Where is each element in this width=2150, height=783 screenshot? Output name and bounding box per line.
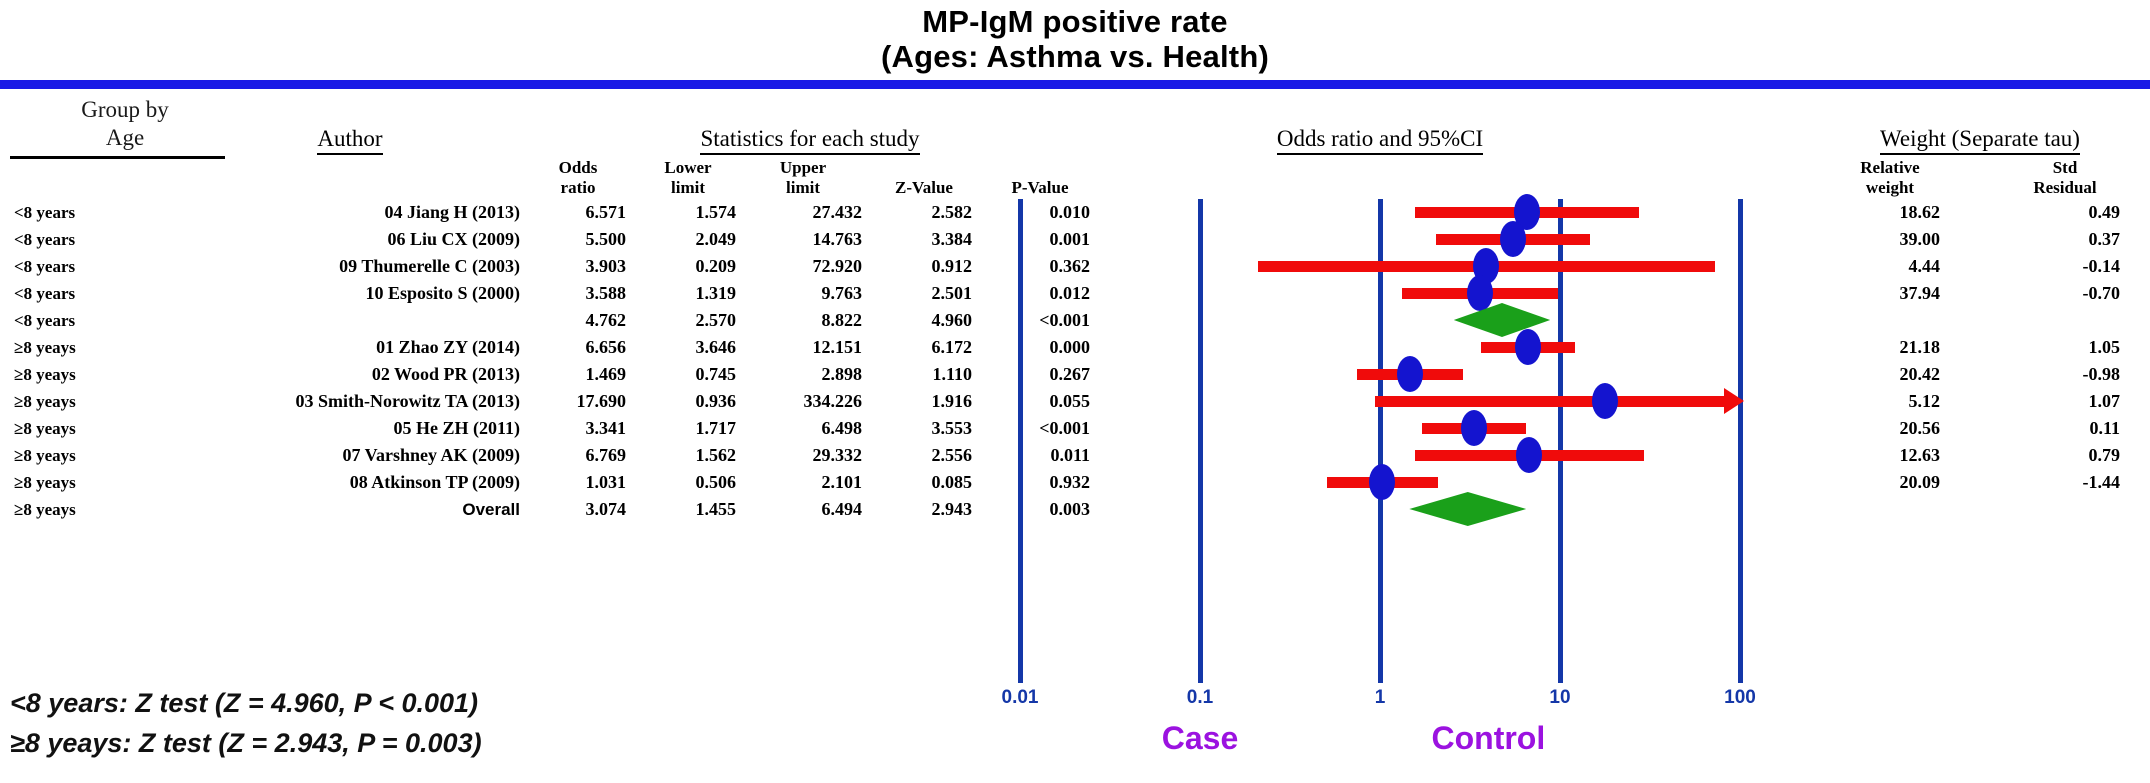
table-cell-group: ≥8 yeays xyxy=(14,388,164,415)
table-cell-z-value: 2.556 xyxy=(876,442,972,469)
table-cell-upper-limit: 27.432 xyxy=(752,199,862,226)
table-cell-upper-limit: 6.494 xyxy=(752,496,862,523)
author-header-label: Author xyxy=(317,126,382,155)
subheader-std-residual: Std Residual xyxy=(2010,158,2120,198)
table-cell-upper-limit: 12.151 xyxy=(752,334,862,361)
table-cell-upper-limit: 2.898 xyxy=(752,361,862,388)
subheader-upper-limit-line1: Upper xyxy=(755,158,851,178)
plot-header-label: Odds ratio and 95%CI xyxy=(1277,126,1483,155)
table-cell-odds-ratio: 3.903 xyxy=(530,253,626,280)
subheader-relative-weight: Relative weight xyxy=(1840,158,1940,198)
table-cell-odds-ratio: 3.074 xyxy=(530,496,626,523)
table-cell-z-value: 2.582 xyxy=(876,199,972,226)
table-cell-group: ≥8 yeays xyxy=(14,496,164,523)
case-direction-label: Case xyxy=(1100,720,1300,757)
confidence-interval-bar xyxy=(1375,396,1724,407)
subheader-relative-weight-line2: weight xyxy=(1840,178,1940,198)
subheader-upper-limit-line2: limit xyxy=(755,178,851,198)
subheader-std-residual-line2: Residual xyxy=(2010,178,2120,198)
axis-gridline-0.01 xyxy=(1018,199,1023,669)
axis-tick-10 xyxy=(1558,669,1563,683)
table-cell-z-value: 2.501 xyxy=(876,280,972,307)
table-cell-author: 10 Esposito S (2000) xyxy=(180,280,520,307)
subheader-odds-ratio-line2: ratio xyxy=(530,178,626,198)
table-cell-lower-limit: 0.209 xyxy=(640,253,736,280)
table-cell-lower-limit: 1.455 xyxy=(640,496,736,523)
plot-header: Odds ratio and 95%CI xyxy=(1130,126,1630,152)
table-cell-relative-weight: 20.56 xyxy=(1840,415,1940,442)
table-cell-relative-weight: 20.42 xyxy=(1840,361,1940,388)
table-cell-group: ≥8 yeays xyxy=(14,415,164,442)
table-cell-z-value: 4.960 xyxy=(876,307,972,334)
table-cell-std-residual: 1.07 xyxy=(2010,388,2120,415)
statistics-header: Statistics for each study xyxy=(530,126,1090,152)
table-cell-odds-ratio: 1.031 xyxy=(530,469,626,496)
table-cell-author: 09 Thumerelle C (2003) xyxy=(180,253,520,280)
table-cell-std-residual: -0.14 xyxy=(2010,253,2120,280)
table-cell-lower-limit: 2.049 xyxy=(640,226,736,253)
figure-title-line2: (Ages: Asthma vs. Health) xyxy=(0,39,2150,74)
table-cell-upper-limit: 14.763 xyxy=(752,226,862,253)
table-cell-std-residual: 1.05 xyxy=(2010,334,2120,361)
subheader-std-residual-line1: Std xyxy=(2010,158,2120,178)
table-cell-author: 03 Smith-Norowitz TA (2013) xyxy=(180,388,520,415)
table-cell-std-residual: -1.44 xyxy=(2010,469,2120,496)
study-point-marker xyxy=(1461,410,1487,446)
study-point-marker xyxy=(1500,221,1526,257)
table-cell-lower-limit: 1.574 xyxy=(640,199,736,226)
table-cell-group: ≥8 yeays xyxy=(14,334,164,361)
table-cell-author: 04 Jiang H (2013) xyxy=(180,199,520,226)
table-cell-upper-limit: 29.332 xyxy=(752,442,862,469)
group-by-label-line1: Group by xyxy=(10,96,240,124)
axis-tick-0.01 xyxy=(1018,669,1023,683)
subheader-p-value-label: P-Value xyxy=(990,178,1090,198)
table-cell-z-value: 6.172 xyxy=(876,334,972,361)
weight-header: Weight (Separate tau) xyxy=(1830,126,2130,152)
figure-title-line1: MP-IgM positive rate xyxy=(0,4,2150,39)
table-cell-z-value: 3.553 xyxy=(876,415,972,442)
axis-tick-1 xyxy=(1378,669,1383,683)
footnote-line-2: ≥8 yeays: Z test (Z = 2.943, P = 0.003) xyxy=(10,728,482,759)
table-cell-group: ≥8 yeays xyxy=(14,442,164,469)
study-point-marker xyxy=(1397,356,1423,392)
table-cell-upper-limit: 72.920 xyxy=(752,253,862,280)
table-cell-relative-weight: 37.94 xyxy=(1840,280,1940,307)
table-cell-upper-limit: 6.498 xyxy=(752,415,862,442)
subheader-lower-limit-line1: Lower xyxy=(640,158,736,178)
table-cell-z-value: 0.085 xyxy=(876,469,972,496)
table-cell-z-value: 1.916 xyxy=(876,388,972,415)
table-cell-odds-ratio: 1.469 xyxy=(530,361,626,388)
table-cell-std-residual: 0.49 xyxy=(2010,199,2120,226)
table-cell-relative-weight: 39.00 xyxy=(1840,226,1940,253)
table-cell-odds-ratio: 6.656 xyxy=(530,334,626,361)
table-cell-relative-weight: 4.44 xyxy=(1840,253,1940,280)
table-cell-std-residual: 0.37 xyxy=(2010,226,2120,253)
table-cell-lower-limit: 0.745 xyxy=(640,361,736,388)
table-cell-author: 01 Zhao ZY (2014) xyxy=(180,334,520,361)
table-cell-author: 05 He ZH (2011) xyxy=(180,415,520,442)
subheader-lower-limit-line2: limit xyxy=(640,178,736,198)
forest-plot-canvas: 0.010.1110100 xyxy=(1020,199,1740,669)
axis-tick-100 xyxy=(1738,669,1743,683)
control-direction-label: Control xyxy=(1388,720,1588,757)
axis-tick-label-100: 100 xyxy=(1700,687,1780,709)
subheader-relative-weight-line1: Relative xyxy=(1840,158,1940,178)
footnote-line-1: <8 years: Z test (Z = 4.960, P < 0.001) xyxy=(10,688,478,719)
subheader-z-value: Z-Value xyxy=(876,178,972,198)
table-cell-std-residual: 0.11 xyxy=(2010,415,2120,442)
figure-title: MP-IgM positive rate (Ages: Asthma vs. H… xyxy=(0,4,2150,74)
table-cell-lower-limit: 0.936 xyxy=(640,388,736,415)
table-cell-group: <8 years xyxy=(14,280,164,307)
table-cell-odds-ratio: 5.500 xyxy=(530,226,626,253)
table-cell-relative-weight: 5.12 xyxy=(1840,388,1940,415)
table-cell-author: 08 Atkinson TP (2009) xyxy=(180,469,520,496)
table-cell-group: <8 years xyxy=(14,253,164,280)
table-cell-lower-limit: 2.570 xyxy=(640,307,736,334)
table-cell-upper-limit: 2.101 xyxy=(752,469,862,496)
table-cell-lower-limit: 1.562 xyxy=(640,442,736,469)
table-cell-author: Overall xyxy=(180,496,520,523)
axis-gridline-100 xyxy=(1738,199,1743,669)
table-cell-lower-limit: 3.646 xyxy=(640,334,736,361)
study-point-marker xyxy=(1592,383,1618,419)
table-cell-std-residual: -0.98 xyxy=(2010,361,2120,388)
table-cell-author: 02 Wood PR (2013) xyxy=(180,361,520,388)
axis-tick-label-10: 10 xyxy=(1520,687,1600,709)
table-cell-relative-weight: 18.62 xyxy=(1840,199,1940,226)
axis-tick-0.1 xyxy=(1198,669,1203,683)
study-point-marker xyxy=(1516,437,1542,473)
table-cell-upper-limit: 334.226 xyxy=(752,388,862,415)
table-cell-lower-limit: 1.319 xyxy=(640,280,736,307)
group-by-underline xyxy=(10,156,225,159)
table-cell-z-value: 2.943 xyxy=(876,496,972,523)
table-cell-odds-ratio: 4.762 xyxy=(530,307,626,334)
subheader-odds-ratio-line1: Odds xyxy=(530,158,626,178)
table-cell-odds-ratio: 6.571 xyxy=(530,199,626,226)
axis-tick-label-0.01: 0.01 xyxy=(980,687,1060,709)
table-cell-lower-limit: 1.717 xyxy=(640,415,736,442)
table-cell-relative-weight: 21.18 xyxy=(1840,334,1940,361)
study-point-marker xyxy=(1467,275,1493,311)
forest-plot-figure: MP-IgM positive rate (Ages: Asthma vs. H… xyxy=(0,0,2150,783)
study-point-marker xyxy=(1369,464,1395,500)
ci-overflow-arrow-icon xyxy=(1724,388,1744,414)
subheader-p-value: P-Value xyxy=(990,178,1090,198)
subheader-upper-limit: Upper limit xyxy=(755,158,851,198)
table-cell-relative-weight: 12.63 xyxy=(1840,442,1940,469)
table-cell-odds-ratio: 6.769 xyxy=(530,442,626,469)
header-divider-rule xyxy=(0,80,2150,89)
statistics-header-label: Statistics for each study xyxy=(700,126,919,155)
table-cell-author: 07 Varshney AK (2009) xyxy=(180,442,520,469)
table-cell-z-value: 1.110 xyxy=(876,361,972,388)
table-cell-z-value: 0.912 xyxy=(876,253,972,280)
summary-diamond xyxy=(1409,492,1526,526)
table-cell-lower-limit: 0.506 xyxy=(640,469,736,496)
subheader-odds-ratio: Odds ratio xyxy=(530,158,626,198)
axis-tick-label-0.1: 0.1 xyxy=(1160,687,1240,709)
weight-header-label: Weight (Separate tau) xyxy=(1880,126,2080,155)
table-cell-std-residual: 0.79 xyxy=(2010,442,2120,469)
table-cell-relative-weight: 20.09 xyxy=(1840,469,1940,496)
table-cell-group: <8 years xyxy=(14,199,164,226)
table-cell-odds-ratio: 3.341 xyxy=(530,415,626,442)
table-cell-group: ≥8 yeays xyxy=(14,469,164,496)
table-cell-odds-ratio: 3.588 xyxy=(530,280,626,307)
subheader-lower-limit: Lower limit xyxy=(640,158,736,198)
table-cell-upper-limit: 9.763 xyxy=(752,280,862,307)
axis-tick-label-1: 1 xyxy=(1340,687,1420,709)
subheader-z-value-label: Z-Value xyxy=(876,178,972,198)
study-point-marker xyxy=(1515,329,1541,365)
table-cell-author: 06 Liu CX (2009) xyxy=(180,226,520,253)
author-header: Author xyxy=(180,126,520,152)
table-cell-z-value: 3.384 xyxy=(876,226,972,253)
axis-gridline-0.1 xyxy=(1198,199,1203,669)
table-cell-std-residual: -0.70 xyxy=(2010,280,2120,307)
table-cell-group: <8 years xyxy=(14,226,164,253)
table-cell-group: <8 years xyxy=(14,307,164,334)
table-cell-odds-ratio: 17.690 xyxy=(530,388,626,415)
table-cell-group: ≥8 yeays xyxy=(14,361,164,388)
table-cell-upper-limit: 8.822 xyxy=(752,307,862,334)
